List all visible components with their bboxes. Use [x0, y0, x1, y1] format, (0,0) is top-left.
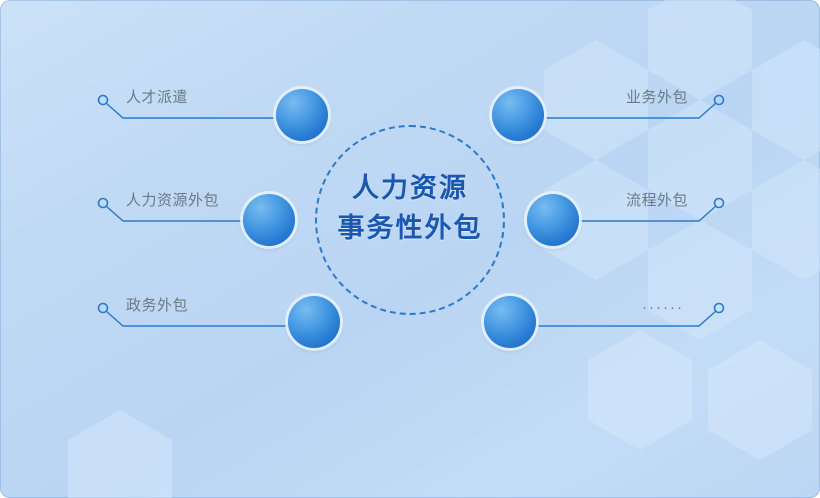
node-more[interactable]: [484, 296, 536, 348]
connector-row-process-outsourcing[interactable]: 流程外包: [570, 191, 724, 237]
connector-row-more[interactable]: ······: [520, 296, 724, 342]
center-title: 人力资源 事务性外包: [300, 168, 520, 248]
node-business-outsourcing[interactable]: [492, 89, 544, 141]
label-process-outsourcing: 流程外包: [626, 191, 688, 211]
label-government-outsourcing: 政务外包: [126, 296, 188, 316]
label-business-outsourcing: 业务外包: [626, 88, 688, 108]
connector-row-hr-outsourcing[interactable]: 人力资源外包: [98, 191, 264, 237]
connector-path: [520, 311, 716, 326]
connector-row-business-outsourcing[interactable]: 业务外包: [528, 88, 724, 134]
connector-row-talent-dispatch[interactable]: 人才派遣: [98, 88, 298, 134]
node-hr-outsourcing[interactable]: [243, 194, 295, 246]
label-more-ellipsis: ······: [642, 298, 684, 318]
node-government-outsourcing[interactable]: [288, 296, 340, 348]
connector-line-right-bottom: [520, 296, 724, 342]
center-title-line-2: 事务性外包: [300, 208, 520, 248]
node-process-outsourcing[interactable]: [527, 194, 579, 246]
center-title-line-1: 人力资源: [300, 168, 520, 208]
label-hr-outsourcing: 人力资源外包: [126, 191, 219, 211]
label-talent-dispatch: 人才派遣: [126, 88, 188, 108]
node-talent-dispatch[interactable]: [276, 89, 328, 141]
connector-row-government-outsourcing[interactable]: 政务外包: [98, 296, 310, 342]
infographic-canvas: 人才派遣 人力资源外包 政务外包 业务外包 流程外包: [0, 0, 820, 498]
